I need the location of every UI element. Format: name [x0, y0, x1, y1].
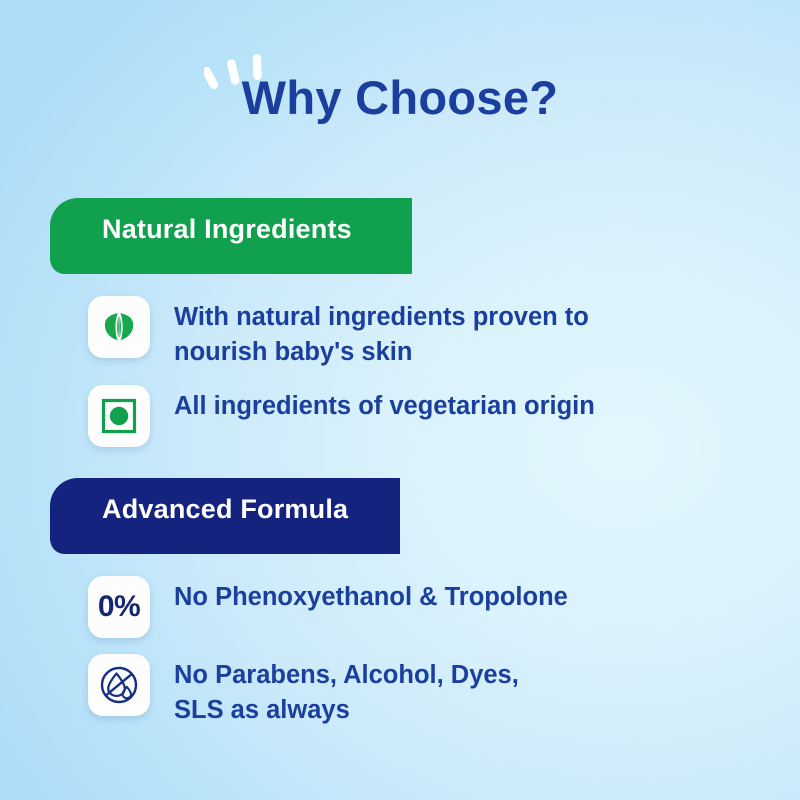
- feature-text-line: nourish baby's skin: [174, 335, 589, 370]
- feature-row: 0% No Phenoxyethanol & Tropolone: [0, 574, 800, 638]
- feature-text-line: SLS as always: [174, 693, 519, 728]
- feature-row: With natural ingredients proven to nouri…: [0, 294, 800, 369]
- banner-natural-ingredients: Natural Ingredients: [50, 198, 800, 290]
- banner-label: Natural Ingredients: [102, 214, 352, 245]
- feature-text: No Parabens, Alcohol, Dyes, SLS as alway…: [174, 652, 519, 727]
- feature-row: No Parabens, Alcohol, Dyes, SLS as alway…: [0, 652, 800, 727]
- feature-text: All ingredients of vegetarian origin: [174, 383, 595, 424]
- zero-percent-label: 0%: [98, 592, 140, 622]
- feature-text-line: With natural ingredients proven to: [174, 300, 589, 335]
- feature-list-natural: With natural ingredients proven to nouri…: [0, 294, 800, 447]
- vegetarian-mark-icon: [88, 385, 150, 447]
- feature-text-line: All ingredients of vegetarian origin: [174, 389, 595, 424]
- banner-label: Advanced Formula: [102, 494, 348, 525]
- banner-advanced-formula: Advanced Formula: [50, 478, 800, 570]
- zero-percent-icon: 0%: [88, 576, 150, 638]
- feature-text-line: No Parabens, Alcohol, Dyes,: [174, 658, 519, 693]
- feature-list-advanced: 0% No Phenoxyethanol & Tropolone No P: [0, 574, 800, 727]
- feature-text: With natural ingredients proven to nouri…: [174, 294, 589, 369]
- leaves-icon: [88, 296, 150, 358]
- title-block: Why Choose?: [0, 48, 800, 125]
- feature-text-line: No Phenoxyethanol & Tropolone: [174, 580, 568, 615]
- feature-text: No Phenoxyethanol & Tropolone: [174, 574, 568, 615]
- feature-row: All ingredients of vegetarian origin: [0, 383, 800, 447]
- page-title: Why Choose?: [0, 48, 800, 125]
- no-droplets-icon: [88, 654, 150, 716]
- why-choose-poster: Why Choose? Natural Ingredients: [0, 0, 800, 800]
- section-natural-ingredients: Natural Ingredients With natural ingredi…: [0, 198, 800, 461]
- section-advanced-formula: Advanced Formula 0% No Phenoxyethanol & …: [0, 478, 800, 741]
